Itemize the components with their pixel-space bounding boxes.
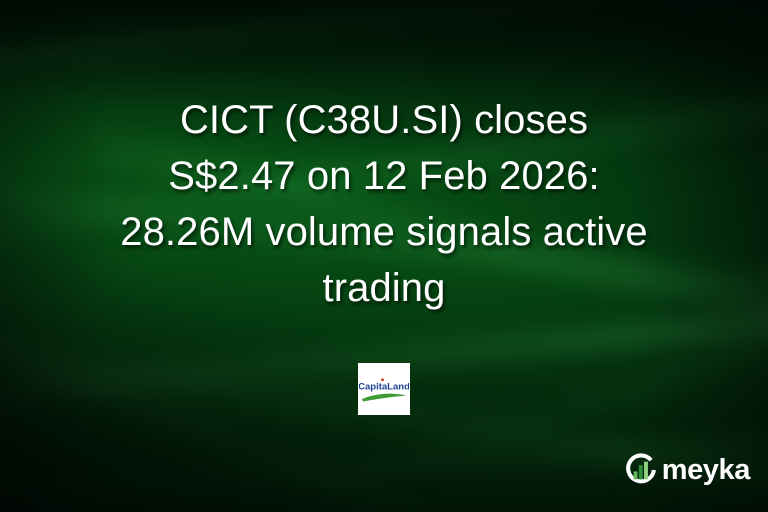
capitaland-logo-icon: CapitaLand — [359, 374, 409, 404]
capitaland-logo-inner: CapitaLand — [358, 363, 410, 415]
meyka-wordmark: meyka — [662, 456, 750, 485]
headline-text: CICT (C38U.SI) closes S$2.47 on 12 Feb 2… — [0, 92, 768, 316]
svg-text:CapitaLand: CapitaLand — [359, 382, 409, 393]
meyka-watermark: meyka — [622, 450, 750, 490]
meyka-chart-ring-icon — [622, 451, 660, 489]
social-share-card: CICT (C38U.SI) closes S$2.47 on 12 Feb 2… — [0, 0, 768, 512]
capitaland-logo: CapitaLand — [358, 363, 410, 415]
